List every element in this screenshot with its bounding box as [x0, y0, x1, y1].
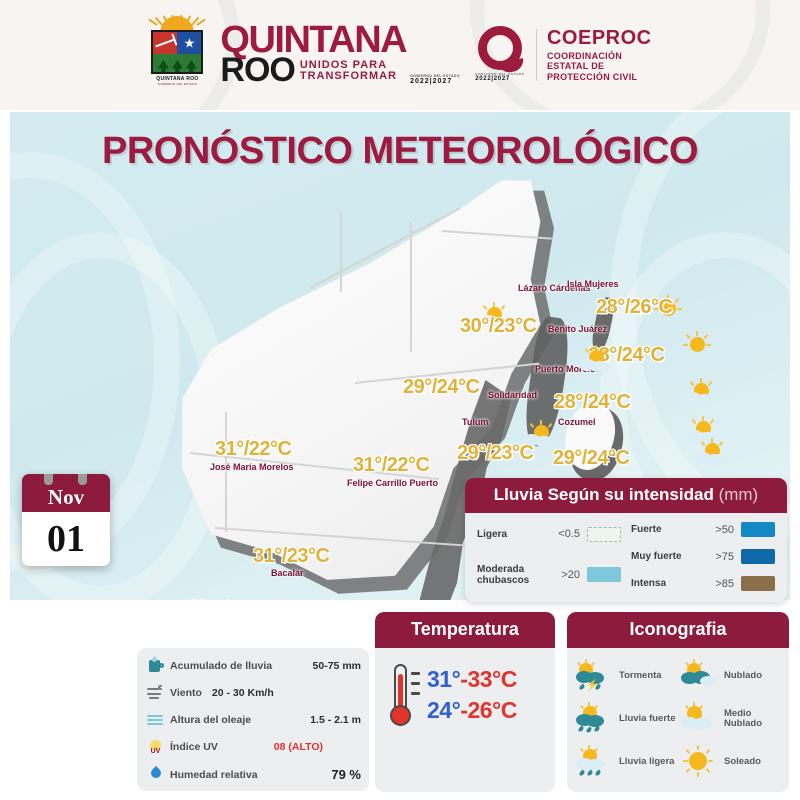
city-label-isla-mujeres: Isla Mujeres — [567, 279, 617, 289]
rain-legend-swatch-intensa — [741, 576, 775, 591]
page-title: PRONÓSTICO METEOROLÓGICO — [10, 130, 790, 173]
lluvia-ligera-icon — [575, 745, 615, 779]
coeproc-logo: GOBIERNO DEL ESTADO 2022|2027 COEPROC CO… — [474, 26, 652, 84]
rain-legend-row: Fuerte >50 — [631, 522, 775, 537]
municipal-border — [225, 412, 227, 532]
legend-label: Tormenta — [619, 671, 662, 681]
info-label: Altura del oleaje — [170, 714, 251, 726]
legend-label: Nublado — [724, 671, 762, 681]
city-label-felipe-carrillo-puerto: Felipe Carrillo Puerto — [347, 478, 438, 488]
temp-label-solidaridad: 29°/24°C — [403, 376, 480, 399]
temp-label-jose-maria-morelos: 31°/22°C — [215, 438, 292, 461]
info-value: 08 (ALTO) — [274, 741, 323, 753]
temp-label-cozumel: 29°/24°C — [553, 447, 630, 470]
info-value: 50-75 mm — [313, 660, 361, 672]
temperature-min-low: 24° — [427, 697, 460, 723]
coeproc-q-icon: GOBIERNO DEL ESTADO 2022|2027 — [474, 26, 526, 84]
logo-line-roo: ROO — [220, 57, 294, 85]
rain-legend-name: Intensa — [631, 578, 697, 589]
legend-item-soleado: Soleado — [680, 742, 783, 782]
iconography-panel-title: Iconografia — [567, 612, 789, 648]
rain-legend-name: Moderada chubascos — [477, 564, 543, 586]
info-row-viento: Viento 20 - 30 Km/h — [147, 684, 361, 701]
rain-legend-value: >85 — [704, 578, 734, 590]
rain-legend-row: Muy fuerte >75 — [631, 549, 775, 564]
weather-icon-benito-juarez — [683, 331, 713, 357]
tormenta-icon: ⚡ — [575, 659, 615, 693]
weather-icon-felipe-carrillo-puerto — [692, 438, 728, 466]
temperature-panel: Temperatura 31°-33°C 24°-26°C — [375, 612, 555, 792]
rain-gauge-icon — [147, 657, 164, 674]
rain-legend-swatch-ligera — [587, 527, 621, 542]
legend-item-lluvia-fuerte: Lluvia fuerte — [575, 699, 678, 739]
legend-item-tormenta: ⚡ Tormenta — [575, 656, 678, 696]
weather-icon-jose-maria-morelos — [521, 420, 557, 448]
info-row-acumulado-lluvia: Acumulado de lluvia 50-75 mm — [147, 657, 361, 674]
city-label-bacalar: Bacalar — [271, 568, 304, 578]
info-row-oleaje: Altura del oleaje 1.5 - 2.1 m — [147, 712, 361, 729]
quintana-roo-coat-of-arms-icon: ★ QUINTANA ROO GOBIERNO DEL ESTADO — [148, 20, 206, 90]
rain-legend-column-left: Ligera <0.5 Moderada chubascos >20 — [477, 522, 621, 591]
calendar-month: Nov — [22, 474, 110, 512]
temperature-min-high: -26°C — [460, 697, 517, 723]
thermometer-icon — [389, 664, 419, 726]
lluvia-fuerte-icon — [575, 702, 615, 736]
info-row-humedad: Humedad relativa 79 % — [147, 766, 361, 783]
waves-icon — [147, 712, 164, 729]
city-label-benito-juarez: Benito Juárez — [548, 324, 596, 334]
info-value: 20 - 30 Km/h — [212, 687, 274, 699]
rain-legend-row: Ligera <0.5 — [477, 527, 621, 542]
calendar-ring-icon — [78, 474, 87, 485]
coeproc-title: COEPROC — [547, 27, 652, 51]
coeproc-years: GOBIERNO DEL ESTADO 2022|2027 — [475, 72, 525, 82]
rain-legend-name: Fuerte — [631, 524, 697, 535]
logo-slogan-line2: TRANSFORMAR — [300, 71, 397, 82]
legend-item-nublado: Nublado — [680, 656, 783, 696]
rain-legend-unit: (mm) — [719, 485, 759, 504]
conditions-panel: Acumulado de lluvia 50-75 mm Viento 20 -… — [137, 648, 369, 791]
legend-item-lluvia-ligera: Lluvia ligera — [575, 742, 678, 782]
date-badge: Nov 01 — [22, 474, 110, 566]
logo-years-value: 2022|2027 — [410, 78, 452, 85]
coeproc-line2: ESTATAL DE — [547, 61, 652, 72]
rain-legend-name: Ligera — [477, 529, 543, 540]
coat-state-sub: GOBIERNO DEL ESTADO — [158, 82, 197, 86]
rain-legend-column-right: Fuerte >50 Muy fuerte >75 Intensa >85 — [631, 522, 775, 591]
temperature-max-low: 31° — [427, 666, 460, 692]
temp-label-lazaro-cardenas: 30°/23°C — [460, 315, 537, 338]
temperature-min-range: 24°-26°C — [427, 697, 517, 724]
rain-legend-title: Lluvia Según su intensidad (mm) — [465, 478, 787, 513]
rain-legend-row: Intensa >85 — [631, 576, 775, 591]
rain-legend-name: Muy fuerte — [631, 551, 697, 562]
rain-legend-swatch-moderada — [587, 567, 621, 582]
legend-label: Lluvia fuerte — [619, 714, 676, 724]
iconography-panel: Iconografia ⚡ Tormenta — [567, 612, 789, 792]
rain-legend-title-text: Lluvia Según su intensidad — [494, 485, 714, 504]
soleado-icon — [680, 745, 720, 779]
coeproc-line3: PROTECCIÓN CIVIL — [547, 72, 652, 83]
medio-nublado-icon — [680, 702, 720, 736]
nublado-icon — [680, 659, 720, 693]
rain-legend-swatch-muy-fuerte — [741, 549, 775, 564]
page-header: ★ QUINTANA ROO GOBIERNO DEL ESTADO QUINT… — [0, 0, 800, 110]
coat-quadrant-star: ★ — [177, 32, 201, 54]
weather-icon-solidaridad — [577, 345, 613, 373]
rain-legend-value: >20 — [550, 569, 580, 581]
rain-intensity-legend: Lluvia Según su intensidad (mm) Ligera <… — [465, 478, 787, 602]
info-label: Viento — [170, 687, 202, 699]
droplet-icon — [147, 766, 164, 783]
temperature-max-high: -33°C — [460, 666, 517, 692]
temp-label-othon-p-blanco: 30°/23°C — [169, 598, 246, 600]
legend-label: Medio Nublado — [724, 709, 783, 730]
calendar-day: 01 — [22, 512, 110, 566]
temp-label-puerto-morelos: 28°/24°C — [554, 391, 631, 414]
rain-legend-value: <0.5 — [550, 528, 580, 540]
temp-label-bacalar: 31°/23°C — [253, 545, 330, 568]
legend-label: Soleado — [724, 757, 761, 767]
temp-label-isla-mujeres: 28°/26°C — [596, 296, 673, 319]
info-label: Humedad relativa — [170, 769, 258, 781]
info-value: 1.5 - 2.1 m — [310, 714, 361, 726]
info-row-indice-uv: UV Índice UV 08 (ALTO) — [147, 739, 361, 756]
info-label: Acumulado de lluvia — [170, 660, 272, 672]
header-divider — [536, 29, 537, 81]
municipal-border — [410, 222, 412, 352]
coeproc-line1: COORDINACIÓN — [547, 51, 652, 62]
rain-legend-value: >75 — [704, 551, 734, 563]
rain-legend-swatch-fuerte — [741, 522, 775, 537]
temperature-max-range: 31°-33°C — [427, 666, 517, 693]
legend-item-medio-nublado: Medio Nublado — [680, 699, 783, 739]
temp-label-felipe-carrillo-puerto: 31°/22°C — [353, 454, 430, 477]
rain-legend-row: Moderada chubascos >20 — [477, 564, 621, 586]
quintana-roo-wordmark: QUINTANA ROO UNIDOS PARA TRANSFORMAR GOB… — [220, 25, 460, 84]
wind-icon — [147, 684, 164, 701]
logo-slogan-line1: UNIDOS PARA — [300, 60, 397, 71]
municipal-border — [340, 212, 342, 292]
weather-icon-puerto-morelos — [682, 378, 718, 406]
rain-legend-value: >50 — [704, 524, 734, 536]
city-label-jose-maria-morelos: José María Morelos — [210, 462, 294, 472]
uv-icon: UV — [147, 739, 164, 756]
logo-years: GOBIERNO DEL ESTADO 2022|2027 — [410, 74, 460, 85]
coat-quadrant-trees — [153, 54, 201, 74]
info-value: 79 % — [331, 767, 361, 782]
legend-label: Lluvia ligera — [619, 757, 674, 767]
city-label-solidaridad: Solidaridad — [488, 390, 537, 400]
temperature-panel-title: Temperatura — [375, 612, 555, 648]
city-label-tulum: Tulum — [462, 417, 488, 427]
city-label-cozumel: Cozumel — [558, 417, 596, 427]
info-label: Índice UV — [170, 741, 218, 753]
calendar-ring-icon — [44, 474, 53, 485]
coeproc-years-value: 2022|2027 — [475, 76, 510, 82]
coat-quadrant-hook — [153, 32, 177, 54]
